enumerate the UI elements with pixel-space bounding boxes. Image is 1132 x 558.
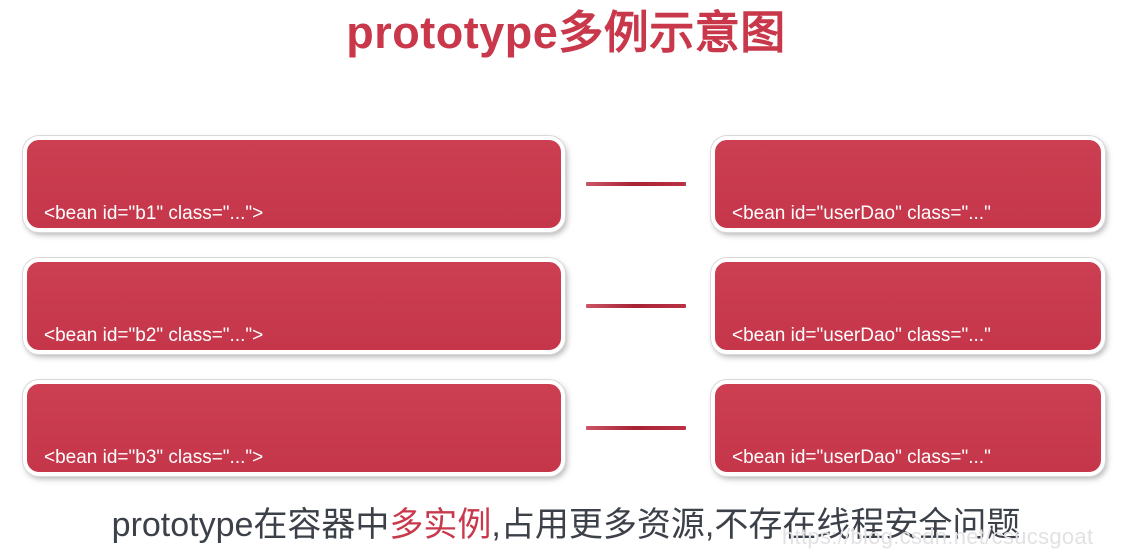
bean-definition-box-left: <bean id="b2" class="..."> <property nam… xyxy=(23,258,565,354)
caption-text-before: prototype在容器中 xyxy=(112,506,390,544)
bean-definition-box-left: <bean id="b3" class="..."> <property nam… xyxy=(23,380,565,476)
code-line: <bean id="userDao" class="..." xyxy=(732,201,1101,227)
prototype-diagram: <bean id="b1" class="..."> <property nam… xyxy=(0,120,1132,492)
code-line: <bean id="userDao" class="..." xyxy=(732,323,1101,349)
diagram-row: <bean id="b2" class="..."> <property nam… xyxy=(0,254,1132,354)
page-title: prototype多例示意图 xyxy=(0,2,1132,64)
diagram-row: <bean id="b3" class="..."> <property nam… xyxy=(0,376,1132,476)
code-line: <bean id="userDao" class="..." xyxy=(732,445,1101,471)
code-line: <bean id="b2" class="..."> xyxy=(44,323,561,349)
code-line: <bean id="b3" class="..."> xyxy=(44,445,561,471)
connector-line xyxy=(586,426,686,430)
bean-definition-box-right: <bean id="userDao" class="..." scope="pr… xyxy=(711,380,1105,476)
caption-text-after: ,占用更多资源,不存在线程安全问题 xyxy=(491,506,1020,544)
diagram-row: <bean id="b1" class="..."> <property nam… xyxy=(0,132,1132,232)
bean-definition-box-left: <bean id="b1" class="..."> <property nam… xyxy=(23,136,565,232)
bean-definition-box-right: <bean id="userDao" class="..." scope="pr… xyxy=(711,258,1105,354)
diagram-caption: prototype在容器中多实例,占用更多资源,不存在线程安全问题 xyxy=(0,500,1132,550)
caption-text-highlight: 多实例 xyxy=(389,506,491,544)
code-line: <bean id="b1" class="..."> xyxy=(44,201,561,227)
connector-line xyxy=(586,182,686,186)
connector-line xyxy=(586,304,686,308)
bean-definition-box-right: <bean id="userDao" class="..." scope="pr… xyxy=(711,136,1105,232)
